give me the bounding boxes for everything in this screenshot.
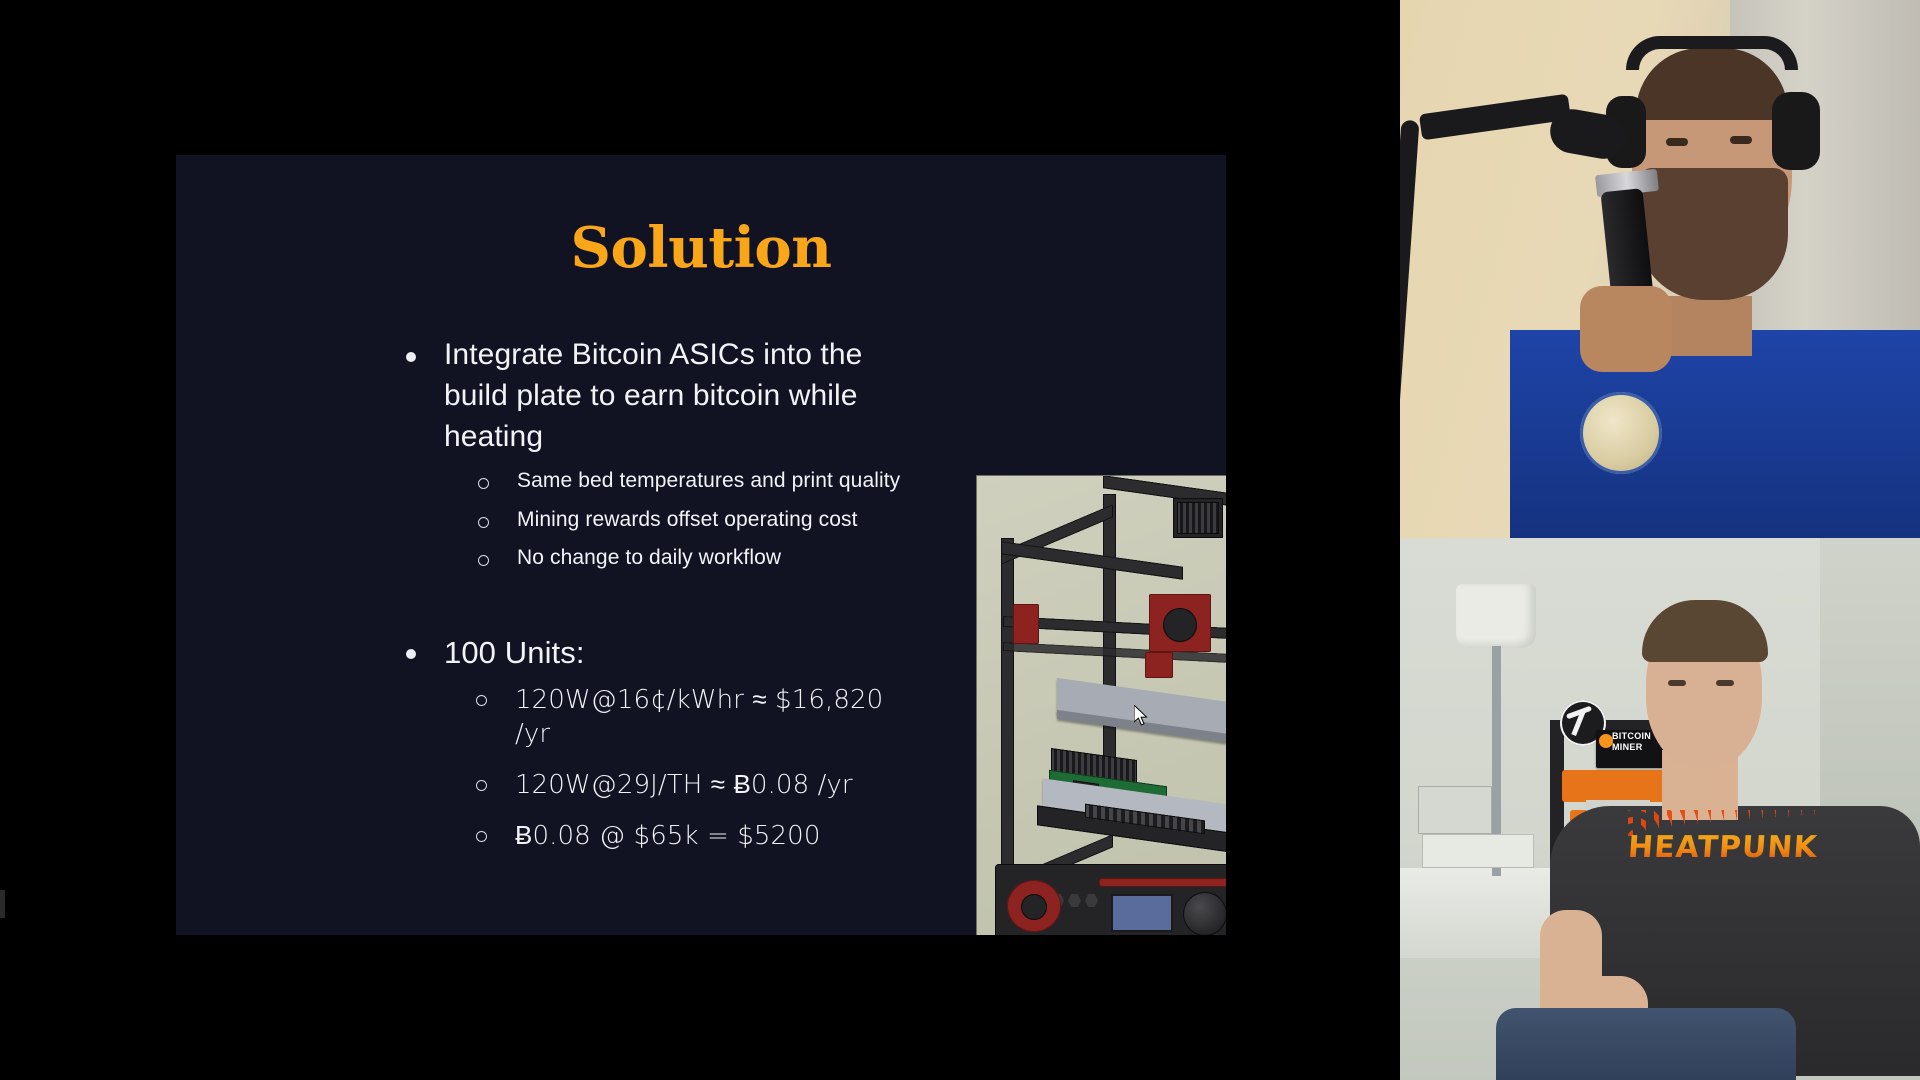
bullet-item-secondary: No change to daily workflow [406, 544, 926, 571]
participant2-eye-right [1716, 680, 1734, 686]
bitcoin-logo-icon [1599, 734, 1613, 748]
webcam-tile-speaker-1[interactable] [1400, 0, 1920, 538]
bullet-item-primary: 100 Units: [406, 632, 926, 674]
bullet-disc-icon [406, 649, 416, 659]
slide-title: Solution [176, 215, 1226, 281]
bullet-circle-icon [478, 517, 489, 528]
participant-beard [1638, 168, 1788, 300]
desk-lamp-shade [1456, 584, 1536, 648]
bullet-item-secondary: 120W@16¢/kWhr ≈ $16,820 /yr [406, 684, 926, 752]
shared-screen-region[interactable]: Solution Integrate Bitcoin ASICs into th… [0, 0, 1400, 1080]
bullet-circle-icon [476, 831, 487, 842]
bullet-text: 120W@16¢/kWhr ≈ $16,820 /yr [515, 684, 926, 752]
webcam-tile-speaker-2[interactable]: BITCOIN MINER HEATPUNK [1400, 538, 1920, 1080]
bullet-text: Mining rewards offset operating cost [517, 506, 858, 533]
bullet-sublist: 120W@16¢/kWhr ≈ $16,820 /yr 120W@29J/TH … [406, 684, 926, 853]
bullet-disc-icon [406, 352, 416, 362]
slide-bullet-list: Integrate Bitcoin ASICs into the build p… [406, 335, 926, 871]
capture-edge-artifact [0, 890, 5, 918]
printer-cad-render-image [976, 475, 1226, 935]
bullet-circle-icon [478, 478, 489, 489]
bullet-text: Integrate Bitcoin ASICs into the build p… [444, 335, 926, 457]
bullet-text: Ƀ0.08 @ $65k = $5200 [515, 820, 820, 854]
bullet-item-secondary: Ƀ0.08 @ $65k = $5200 [406, 820, 926, 854]
webcam-panel-stack: BITCOIN MINER HEATPUNK [1400, 0, 1920, 1080]
bullet-item-secondary: Same bed temperatures and print quality [406, 467, 926, 494]
bullet-spacer [406, 582, 926, 632]
participant-eye-left [1666, 138, 1688, 146]
bullet-text: 100 Units: [444, 632, 585, 674]
participant-hand [1580, 286, 1672, 372]
participant2-eye-left [1668, 680, 1686, 686]
bullet-circle-icon [476, 695, 487, 706]
headphones-band [1626, 36, 1798, 70]
presentation-slide[interactable]: Solution Integrate Bitcoin ASICs into th… [176, 155, 1226, 935]
shirt-logo-badge [1580, 392, 1662, 474]
desk-3d-printer-spool [1562, 770, 1670, 802]
bullet-item-secondary: Mining rewards offset operating cost [406, 506, 926, 533]
mouse-cursor [1134, 705, 1150, 727]
participant2-legs [1496, 1008, 1796, 1080]
desk-equipment [1418, 786, 1492, 834]
bullet-text: No change to daily workflow [517, 544, 781, 571]
bullet-sublist: Same bed temperatures and print quality … [406, 467, 926, 571]
bullet-circle-icon [478, 555, 489, 566]
bullet-text: Same bed temperatures and print quality [517, 467, 900, 494]
bullet-group-units: 100 Units: 120W@16¢/kWhr ≈ $16,820 /yr 1… [406, 632, 926, 853]
bullet-item-secondary: 120W@29J/TH ≈ Ƀ0.08 /yr [406, 769, 926, 803]
shirt-text: HEATPUNK [1627, 830, 1819, 865]
screen-capture: Solution Integrate Bitcoin ASICs into th… [0, 0, 1920, 1080]
bullet-circle-icon [476, 780, 487, 791]
bullet-text: 120W@29J/TH ≈ Ƀ0.08 /yr [515, 769, 853, 803]
headphones-earcup-right [1772, 92, 1820, 170]
desk-keyboard [1422, 834, 1534, 868]
bullet-item-primary: Integrate Bitcoin ASICs into the build p… [406, 335, 926, 457]
participant-eye-right [1730, 136, 1752, 144]
participant-torso [1510, 330, 1920, 538]
